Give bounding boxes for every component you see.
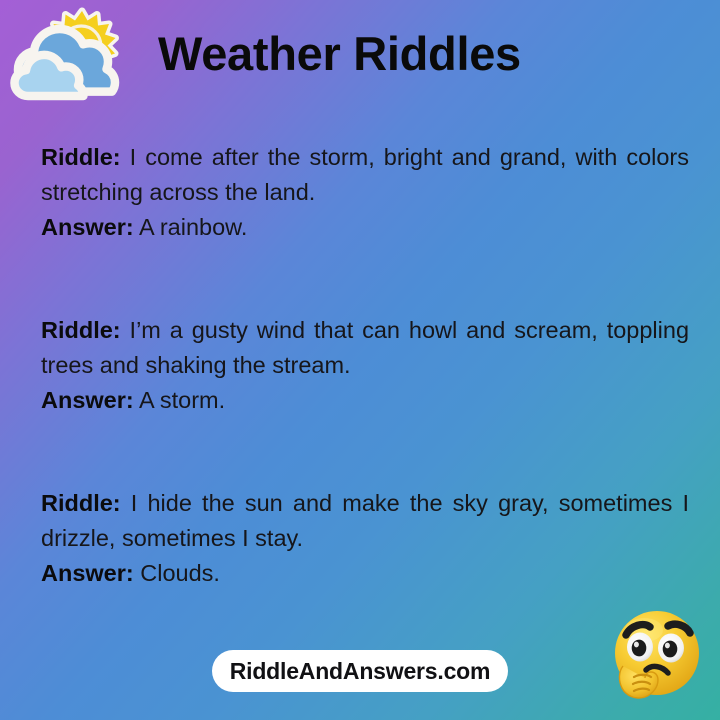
riddle-list: Riddle: I come after the storm, bright a…: [41, 140, 689, 591]
answer-label: Answer:: [41, 214, 134, 240]
riddle-label: Riddle:: [41, 144, 121, 170]
site-badge[interactable]: RiddleAndAnswers.com: [212, 650, 508, 692]
riddle-block: Riddle: I come after the storm, bright a…: [41, 140, 689, 245]
riddle-text: I’m a gusty wind that can howl and screa…: [41, 317, 689, 378]
riddle-text: I hide the sun and make the sky gray, so…: [41, 490, 689, 551]
answer-label: Answer:: [41, 560, 134, 586]
riddle-label: Riddle:: [41, 317, 121, 343]
riddle-question: Riddle: I hide the sun and make the sky …: [41, 486, 689, 556]
site-badge-label: RiddleAndAnswers.com: [230, 658, 491, 685]
answer-text: A rainbow.: [139, 214, 247, 240]
riddle-block: Riddle: I’m a gusty wind that can howl a…: [41, 313, 689, 418]
answer-text: A storm.: [139, 387, 225, 413]
emoji-eye-right: [658, 634, 684, 663]
riddle-label: Riddle:: [41, 490, 121, 516]
riddle-answer: Answer: A rainbow.: [41, 210, 689, 245]
weather-riddles-poster: Weather Riddles Riddle: I come after the…: [0, 0, 720, 720]
answer-label: Answer:: [41, 387, 134, 413]
page-title: Weather Riddles: [158, 27, 678, 81]
riddle-answer: Answer: A storm.: [41, 383, 689, 418]
riddle-block: Riddle: I hide the sun and make the sky …: [41, 486, 689, 591]
riddle-text: I come after the storm, bright and grand…: [41, 144, 689, 205]
answer-text: Clouds.: [140, 560, 220, 586]
riddle-question: Riddle: I come after the storm, bright a…: [41, 140, 689, 210]
poster-header: Weather Riddles: [0, 0, 720, 122]
riddle-answer: Answer: Clouds.: [41, 556, 689, 591]
emoji-eye-left: [627, 633, 653, 662]
sun-behind-cloud-icon: [8, 6, 120, 102]
riddle-question: Riddle: I’m a gusty wind that can howl a…: [41, 313, 689, 383]
thinking-face-emoji: [606, 604, 708, 704]
